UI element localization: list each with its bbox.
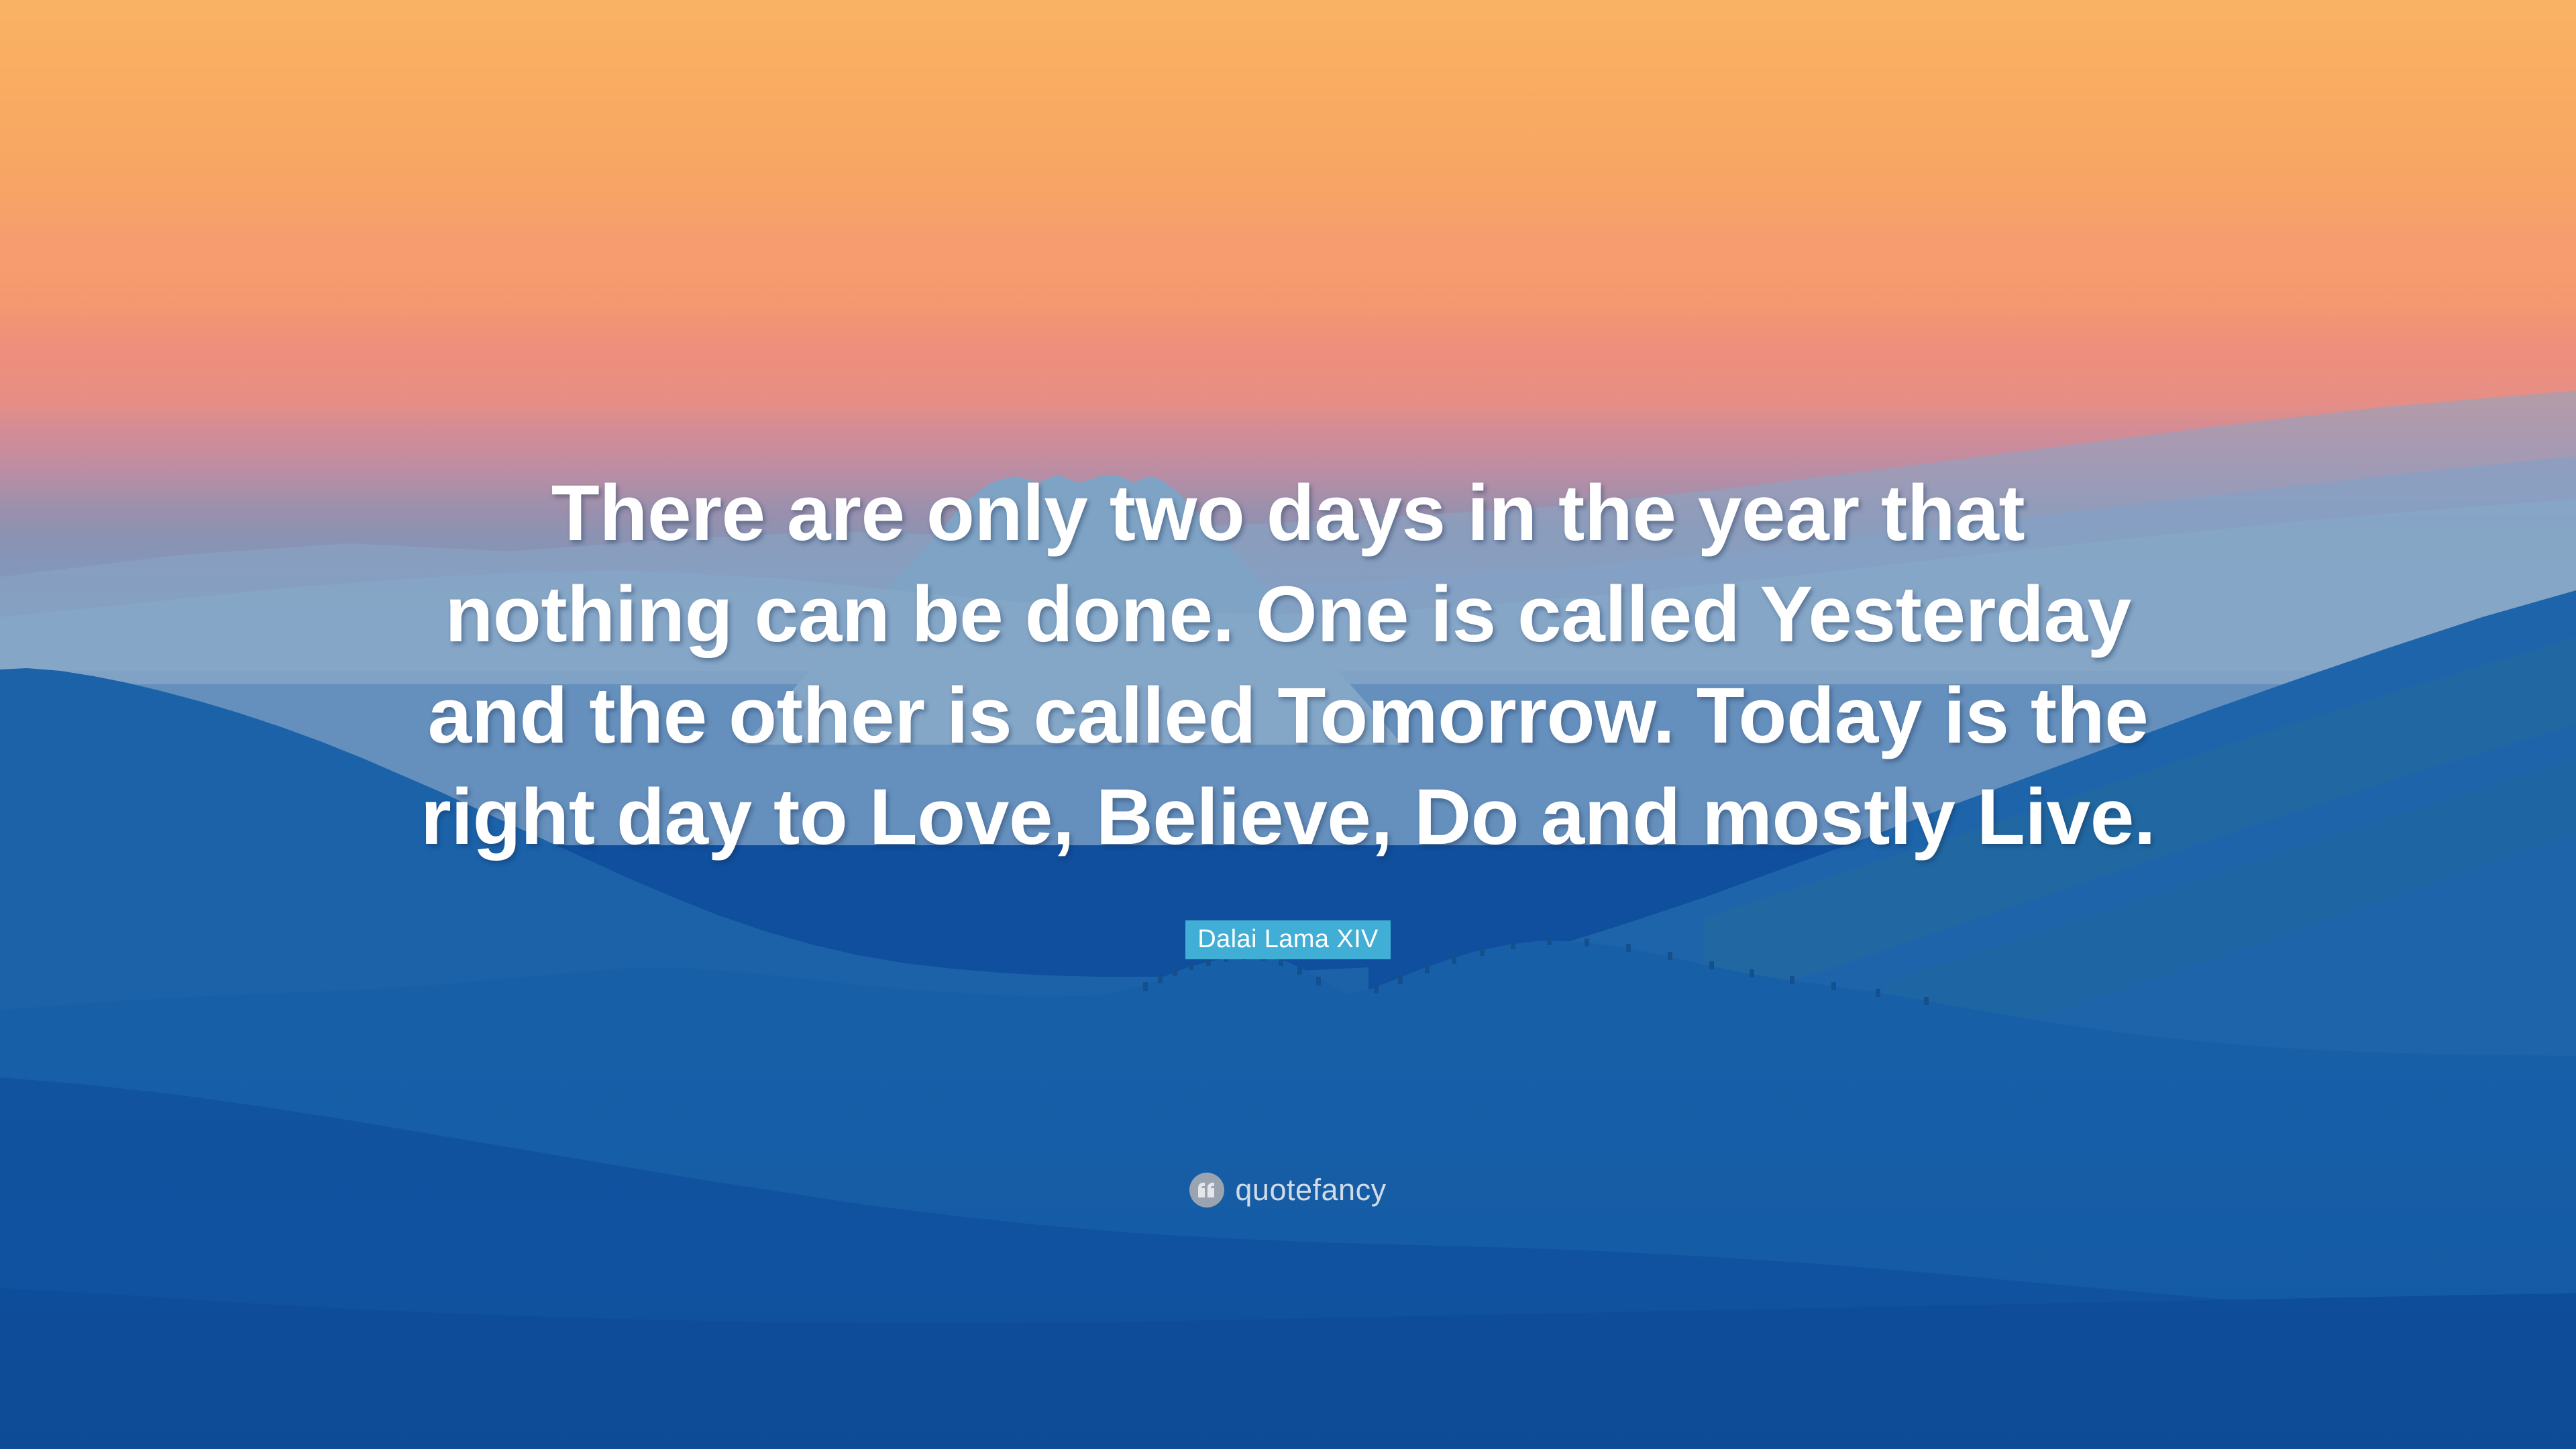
quote-text-block: There are only two days in the year that…: [0, 463, 2576, 868]
quotefancy-watermark[interactable]: quotefancy: [0, 1173, 2576, 1207]
quote-line-1: There are only two days in the year that: [0, 463, 2576, 564]
author-attribution: Dalai Lama XIV: [0, 920, 2576, 959]
author-name-badge[interactable]: Dalai Lama XIV: [1185, 920, 1391, 959]
quote-line-2: nothing can be done. One is called Yeste…: [0, 564, 2576, 665]
mountain-layer-bottom: [0, 1228, 2576, 1449]
quote-marks-icon: [1189, 1173, 1224, 1207]
quote-poster: There are only two days in the year that…: [0, 0, 2576, 1449]
quote-line-4: right day to Love, Believe, Do and mostl…: [0, 767, 2576, 868]
quote-line-3: and the other is called Tomorrow. Today …: [0, 665, 2576, 767]
quotefancy-brand-label: quotefancy: [1235, 1173, 1386, 1207]
